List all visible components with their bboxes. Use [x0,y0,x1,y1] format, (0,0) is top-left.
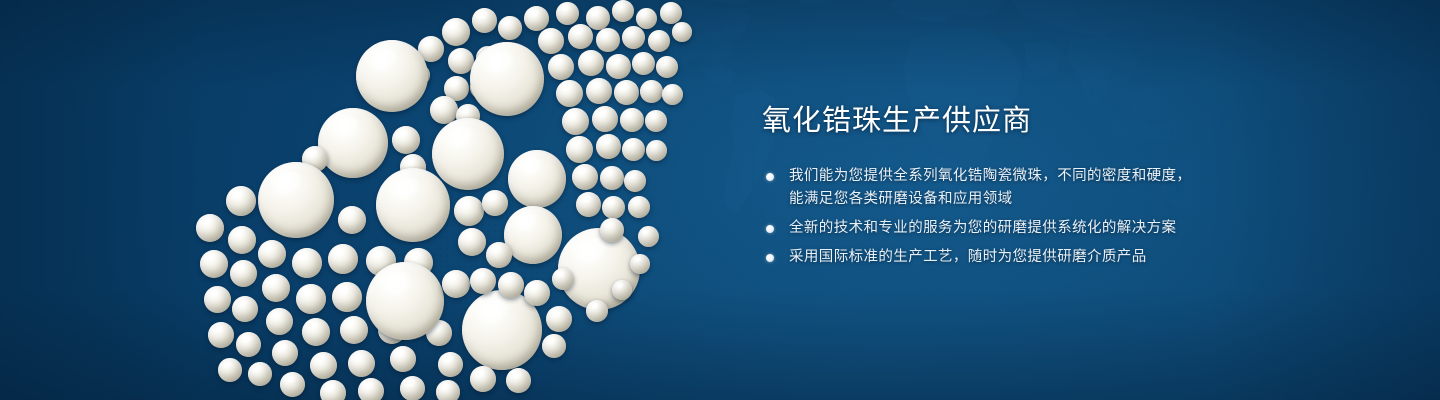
bullet-text-line-continued: 能满足您各类研磨设备和应用领域 [789,188,1232,211]
bullet-item: 我们能为您提供全系列氧化锆陶瓷微珠，不同的密度和硬度， 能满足您各类研磨设备和应… [762,165,1232,211]
bullet-text-line: 我们能为您提供全系列氧化锆陶瓷微珠，不同的密度和硬度， [789,165,1232,188]
banner-text-block: 氧化锆珠生产供应商 我们能为您提供全系列氧化锆陶瓷微珠，不同的密度和硬度， 能满… [762,106,1232,269]
banner-bullet-list: 我们能为您提供全系列氧化锆陶瓷微珠，不同的密度和硬度， 能满足您各类研磨设备和应… [762,165,1232,269]
bullet-text-line: 采用国际标准的生产工艺，随时为您提供研磨介质产品 [789,246,1232,269]
bullet-item: 全新的技术和专业的服务为您的研磨提供系统化的解决方案 [762,217,1232,240]
bullet-item: 采用国际标准的生产工艺，随时为您提供研磨介质产品 [762,246,1232,269]
bullet-dot-icon [766,254,774,262]
bullet-dot-icon [766,173,774,181]
hero-banner: 氧化锆珠生产供应商 我们能为您提供全系列氧化锆陶瓷微珠，不同的密度和硬度， 能满… [0,0,1440,400]
bullet-text-line: 全新的技术和专业的服务为您的研磨提供系统化的解决方案 [789,217,1232,240]
bullet-dot-icon [766,225,774,233]
banner-headline: 氧化锆珠生产供应商 [762,106,1232,135]
